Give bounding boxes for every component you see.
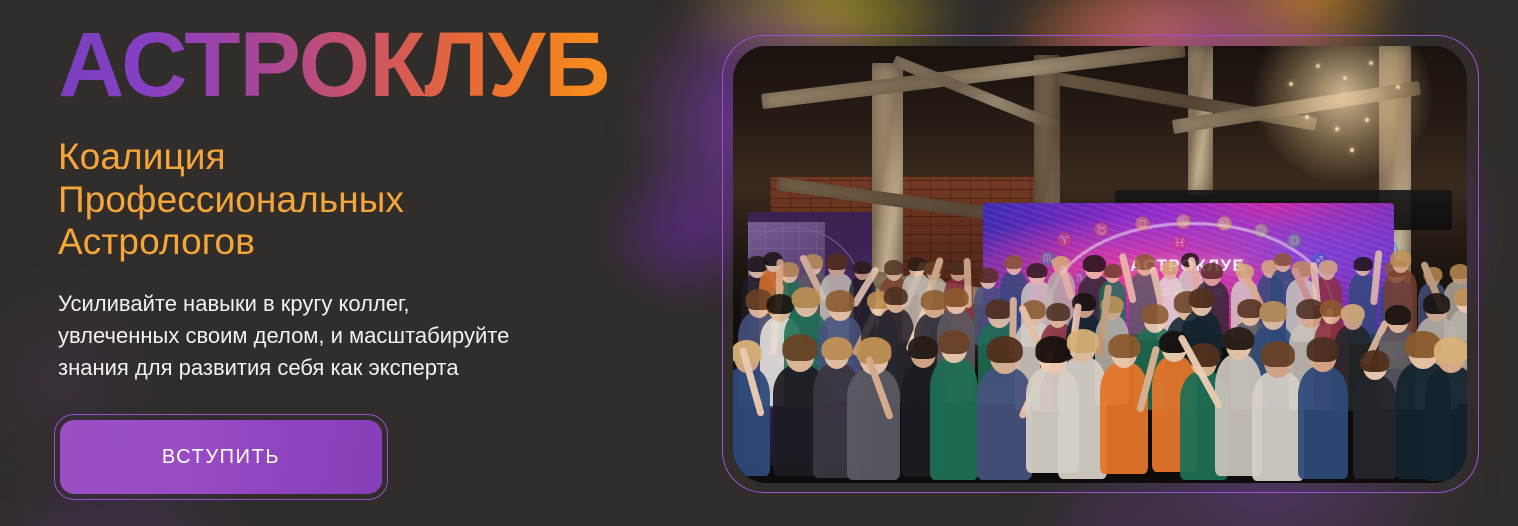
attendee-hair	[1423, 293, 1451, 314]
attendee-hair	[884, 260, 904, 275]
attendee-hair	[1260, 301, 1288, 322]
attendee-hair	[767, 294, 794, 314]
attendee-hair	[1450, 264, 1467, 279]
attendee-hair	[1361, 350, 1390, 372]
attendee-hair	[1454, 288, 1467, 306]
attendee-hair	[1046, 303, 1070, 321]
hero-subtitle-line-2: Профессиональных	[58, 179, 678, 222]
attendee-hair	[1341, 304, 1366, 323]
hero-banner: АСТРОКЛУБ Коалиция Профессиональных Астр…	[0, 0, 1518, 526]
attendee-hair	[1318, 260, 1337, 274]
attendee-hair	[1141, 304, 1168, 324]
attendee-hair	[1104, 264, 1122, 278]
attendee-hair	[1306, 337, 1339, 362]
page-title: АСТРОКЛУБ	[58, 18, 678, 114]
attendee-hair	[856, 337, 891, 364]
attendee-hair	[1385, 305, 1411, 325]
attendee-hair	[821, 337, 852, 361]
attendee	[1353, 375, 1397, 480]
attendee-hair	[1026, 263, 1047, 279]
attendee-hair	[1004, 255, 1023, 269]
attendee-hair	[1083, 255, 1105, 272]
attendee-hair	[1161, 261, 1178, 274]
attendee-hair	[1390, 250, 1412, 266]
join-button[interactable]: ВСТУПИТЬ	[60, 420, 382, 494]
attendee-hair	[985, 299, 1012, 320]
audience-group	[733, 212, 1467, 483]
attendee	[977, 367, 1032, 480]
attendee	[1100, 362, 1148, 475]
attendee	[930, 357, 977, 480]
chandelier	[1248, 46, 1438, 187]
attendee	[847, 368, 901, 480]
attendee-hair	[1434, 337, 1467, 363]
attendee	[733, 367, 770, 476]
attendee-hair	[825, 253, 847, 270]
hero-subtitle-line-3: Астрологов	[58, 221, 678, 264]
attendee-hair	[1035, 336, 1070, 363]
attendee-hair	[944, 288, 969, 307]
attendee	[1298, 366, 1348, 479]
attendee-hair	[1354, 257, 1373, 271]
attendee-hair	[782, 334, 817, 361]
attendee-hair	[1188, 288, 1215, 308]
attendee-hair	[1223, 327, 1254, 351]
attendee-hair	[1320, 300, 1343, 317]
hero-lead-text: Усиливайте навыки в кругу коллег, увлече…	[58, 288, 678, 383]
attendee-hair	[1066, 329, 1098, 353]
attendee-hair	[826, 290, 855, 312]
attendee-hair	[792, 287, 821, 309]
cta-container: ВСТУПИТЬ	[60, 420, 382, 494]
attendee-hair	[1261, 341, 1295, 367]
attendee-hair	[938, 330, 969, 354]
hero-subtitle: Коалиция Профессиональных Астрологов	[58, 136, 678, 265]
attendee-hair	[1201, 263, 1223, 280]
attendee	[1252, 371, 1304, 481]
attendee-hair	[1274, 253, 1292, 267]
attendee-hair	[986, 336, 1023, 364]
hero-lead-line-3: знания для развития себя как эксперта	[58, 352, 678, 384]
attendee-hair	[979, 268, 999, 283]
attendee-hair	[1109, 334, 1140, 358]
hero-lead-line-1: Усиливайте навыки в кругу коллег,	[58, 288, 678, 320]
raised-arm	[1058, 265, 1074, 302]
attendee	[1425, 366, 1467, 481]
hero-subtitle-line-1: Коалиция	[58, 136, 678, 179]
hero-text-column: АСТРОКЛУБ Коалиция Профессиональных Астр…	[58, 18, 678, 383]
attendee-hair	[883, 287, 907, 305]
attendee-hair	[908, 336, 938, 359]
hero-lead-line-2: увлеченных своим делом, и масштабируйте	[58, 320, 678, 352]
event-photo: ♈ ♉ ♊ ♋ ♌ ♍ ♎ ♏ ♐ ♑ ♒ ♓ АСТРОКЛУБ КОАЛИЦ…	[733, 46, 1467, 483]
